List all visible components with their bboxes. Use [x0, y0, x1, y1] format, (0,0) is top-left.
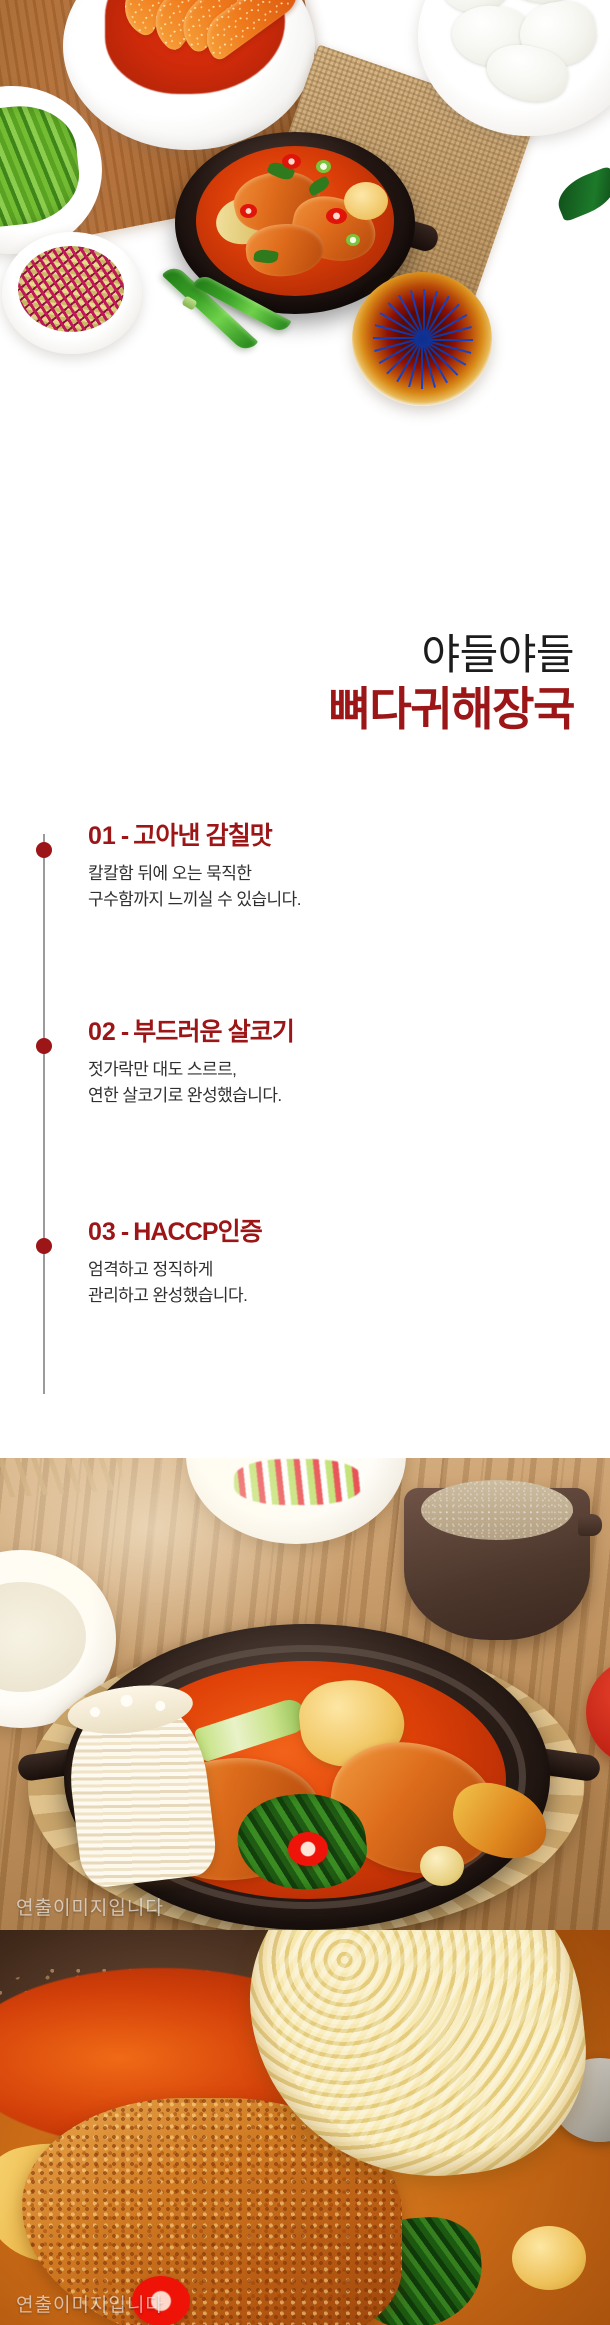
feature-description-line: 연한 살코기로 완성했습니다.	[88, 1086, 282, 1105]
chili-slice	[326, 208, 347, 224]
chili-slice	[282, 154, 301, 169]
rice-grains	[421, 1480, 574, 1540]
feature-description-line: 젓가락만 대도 스르르,	[88, 1060, 236, 1079]
feature-heading: 02-부드러운 살코기	[88, 1018, 294, 1046]
feature-separator: -	[116, 822, 133, 850]
feature-heading-text: 부드러운 살코기	[133, 1018, 294, 1046]
feature-separator: -	[116, 1218, 133, 1246]
chili-slice	[240, 204, 257, 218]
feature-description-line: 칼칼함 뒤에 오는 묵직한	[88, 864, 251, 883]
feature-description-line: 관리하고 완성했습니다.	[88, 1286, 247, 1305]
garlic-clove	[420, 1846, 464, 1886]
feature-heading: 01-고아낸 감칠맛	[88, 822, 301, 850]
clay-rice-pot	[404, 1488, 590, 1640]
serving-photo-pan: 연출이미지입니다	[0, 1458, 610, 1930]
product-detail-page: 야들야들 뼈다귀해장국 01-고아낸 감칠맛 칼칼함 뒤에 오는 묵직한 구수함…	[0, 0, 610, 2325]
feature-heading-text: HACCP인증	[133, 1218, 262, 1246]
timeline-dot-icon	[36, 1038, 52, 1054]
timeline-axis	[43, 834, 45, 1394]
feature-number: 03	[88, 1218, 116, 1246]
seasoned-sprouts	[18, 246, 124, 332]
feature-heading-text: 고아낸 감칠맛	[133, 822, 272, 850]
timeline-dot-icon	[36, 842, 52, 858]
feature-description-line: 엄격하고 정직하게	[88, 1260, 213, 1279]
feature-description-line: 구수함까지 느끼실 수 있습니다.	[88, 890, 301, 909]
feature-description: 젓가락만 대도 스르르, 연한 살코기로 완성했습니다.	[88, 1057, 294, 1109]
serving-photo-ramen: 연출이미지입니다	[0, 1930, 610, 2325]
feature-content: 03-HACCP인증 엄격하고 정직하게 관리하고 완성했습니다.	[88, 1218, 262, 1309]
feature-description: 칼칼함 뒤에 오는 묵직한 구수함까지 느끼실 수 있습니다.	[88, 861, 301, 913]
potato-piece	[344, 182, 388, 220]
feature-description: 엄격하고 정직하게 관리하고 완성했습니다.	[88, 1257, 262, 1309]
timeline-dot-icon	[36, 1238, 52, 1254]
dish-pattern	[352, 272, 492, 406]
feature-number: 01	[88, 822, 116, 850]
egg-yolk	[512, 2226, 586, 2290]
scallion-slice	[346, 234, 360, 246]
basil-leaf	[552, 166, 610, 223]
scallion-slice	[316, 160, 331, 173]
feature-content: 01-고아낸 감칠맛 칼칼함 뒤에 오는 묵직한 구수함까지 느끼실 수 있습니…	[88, 822, 301, 913]
pot-ear-handle	[578, 1514, 602, 1536]
product-title-subline: 야들야들	[0, 630, 574, 680]
product-title-block: 야들야들 뼈다귀해장국	[0, 630, 610, 737]
chili-slice	[288, 1832, 328, 1866]
feature-separator: -	[116, 1018, 133, 1046]
hero-food-photo	[0, 0, 610, 425]
feature-timeline: 01-고아낸 감칠맛 칼칼함 뒤에 오는 묵직한 구수함까지 느끼실 수 있습니…	[0, 820, 610, 1460]
feature-heading: 03-HACCP인증	[88, 1218, 262, 1246]
feature-content: 02-부드러운 살코기 젓가락만 대도 스르르, 연한 살코기로 완성했습니다.	[88, 1018, 294, 1109]
photo-watermark: 연출이미지입니다	[16, 1893, 164, 1920]
feature-number: 02	[88, 1018, 116, 1046]
photo-watermark: 연출이미지입니다	[16, 2290, 164, 2317]
product-title-main: 뼈다귀해장국	[0, 682, 574, 737]
soy-sauce-dish	[352, 272, 492, 406]
